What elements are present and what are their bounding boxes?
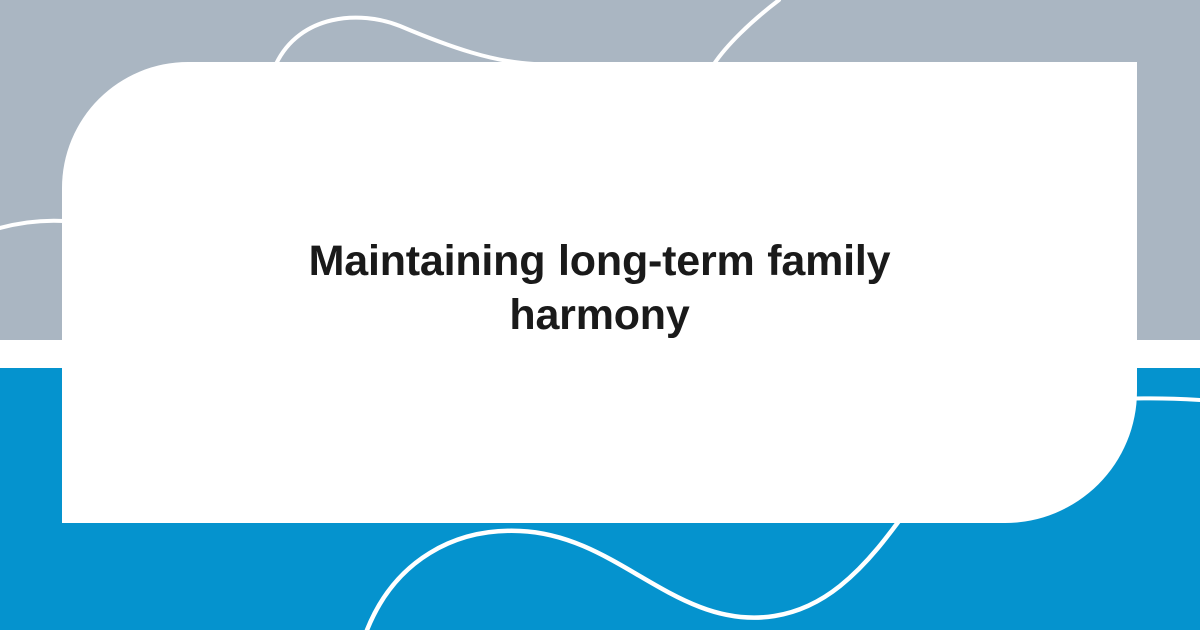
social-card-canvas: Maintaining long-term family harmony <box>0 0 1200 630</box>
content-card: Maintaining long-term family harmony <box>62 62 1137 523</box>
page-title: Maintaining long-term family harmony <box>240 235 960 342</box>
headline-block: Maintaining long-term family harmony <box>240 235 960 342</box>
